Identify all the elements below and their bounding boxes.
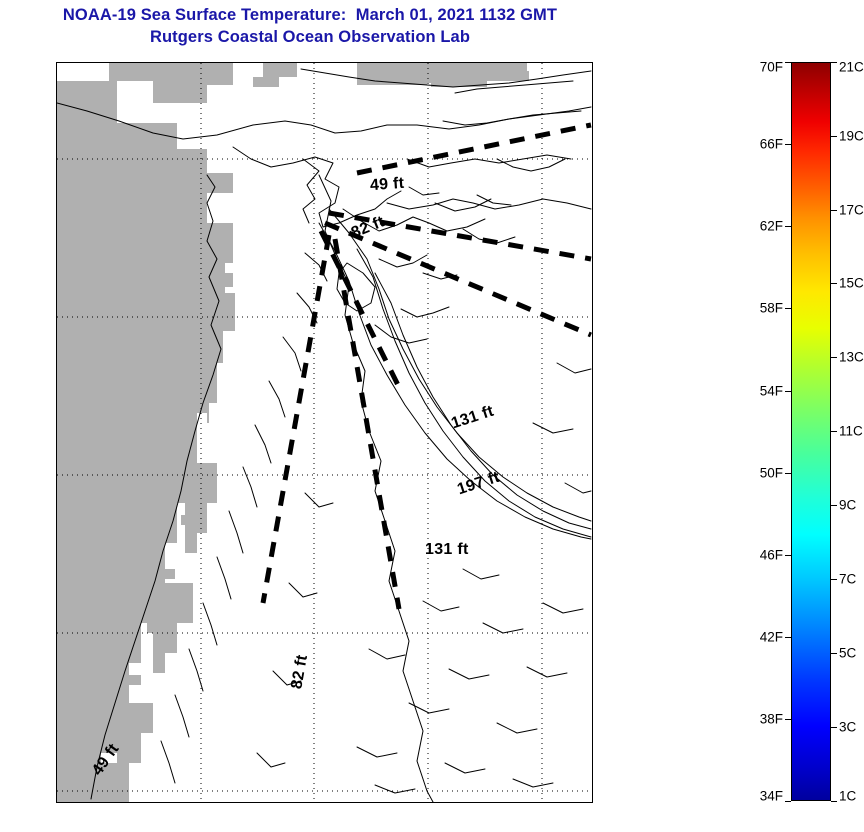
depth-label-49ft-north: 49 ft [369, 175, 405, 195]
cb-tick-c [831, 579, 837, 580]
page-title: NOAA-19 Sea Surface Temperature: March 0… [0, 4, 620, 26]
y-tick-major [56, 159, 57, 160]
y-tick-minor [56, 349, 57, 350]
cb-tick-f [785, 801, 791, 802]
x-tick-major [428, 802, 429, 803]
cb-tick-c [831, 283, 837, 284]
cb-label-9c: 9C [839, 498, 856, 513]
x-tick-minor [519, 62, 520, 63]
x-tick-major [542, 802, 543, 803]
y-tick-major [56, 317, 57, 318]
cb-label-13c: 13C [839, 350, 864, 365]
cb-tick-c [831, 136, 837, 137]
y-tick-minor [56, 380, 57, 381]
y-tick-major-right [592, 317, 593, 318]
y-tick-major [56, 475, 57, 476]
y-tick-minor [592, 696, 593, 697]
y-tick-major-right [592, 791, 593, 792]
cb-tick-f [785, 555, 791, 556]
cb-label-17c: 17C [839, 203, 864, 218]
depth-label-131ft-lower: 131 ft [425, 541, 469, 559]
sst-map-canvas [57, 63, 592, 802]
x-tick-minor [269, 802, 270, 803]
y-tick-minor [56, 570, 57, 571]
x-tick-minor [224, 802, 225, 803]
y-tick-minor [592, 665, 593, 666]
cb-tick-f [785, 719, 791, 720]
y-tick-minor [592, 759, 593, 760]
y-tick-minor [592, 728, 593, 729]
y-tick-minor [56, 191, 57, 192]
x-tick-minor [88, 802, 89, 803]
x-tick-major [201, 802, 202, 803]
y-tick-minor [56, 443, 57, 444]
x-tick-minor [156, 62, 157, 63]
y-tick-minor [592, 570, 593, 571]
y-tick-minor [592, 285, 593, 286]
cb-tick-c [831, 801, 837, 802]
cb-tick-c [831, 431, 837, 432]
cb-label-58f: 58F [760, 301, 783, 316]
y-tick-minor [592, 64, 593, 65]
x-tick-minor [292, 62, 293, 63]
y-tick-minor [592, 254, 593, 255]
x-tick-minor [337, 62, 338, 63]
page-subtitle: Rutgers Coastal Ocean Observation Lab [0, 26, 620, 48]
cb-label-54f: 54F [760, 384, 783, 399]
y-tick-minor [56, 759, 57, 760]
y-tick-minor [592, 349, 593, 350]
cb-label-50f: 50F [760, 466, 783, 481]
y-tick-minor [56, 601, 57, 602]
y-tick-major-right [592, 159, 593, 160]
y-tick-minor [56, 64, 57, 65]
cb-label-5c: 5C [839, 646, 856, 661]
cb-tick-f [785, 308, 791, 309]
x-tick-minor [473, 62, 474, 63]
x-tick-major-top [314, 62, 315, 63]
x-tick-minor [451, 802, 452, 803]
cb-tick-f [785, 391, 791, 392]
chart-title-block: NOAA-19 Sea Surface Temperature: March 0… [0, 4, 620, 48]
x-tick-minor [178, 802, 179, 803]
cb-label-7c: 7C [839, 572, 856, 587]
cb-label-42f: 42F [760, 630, 783, 645]
colorbar-gradient [791, 62, 831, 801]
x-tick-minor [88, 62, 89, 63]
y-tick-minor [592, 443, 593, 444]
cb-label-1c: 1C [839, 789, 856, 804]
x-tick-major [314, 802, 315, 803]
x-tick-minor [519, 802, 520, 803]
x-tick-minor [224, 62, 225, 63]
x-tick-minor [246, 62, 247, 63]
cb-label-19c: 19C [839, 129, 864, 144]
cb-tick-f [785, 637, 791, 638]
y-tick-minor [592, 222, 593, 223]
y-tick-minor [592, 507, 593, 508]
cb-tick-f [785, 62, 791, 63]
y-tick-minor [56, 127, 57, 128]
y-tick-minor [592, 127, 593, 128]
y-tick-minor [56, 665, 57, 666]
y-tick-minor [592, 601, 593, 602]
cb-label-3c: 3C [839, 720, 856, 735]
y-tick-minor [592, 96, 593, 97]
x-tick-minor [110, 62, 111, 63]
cb-tick-f [785, 144, 791, 145]
y-tick-minor [592, 380, 593, 381]
x-tick-major-top [428, 62, 429, 63]
y-tick-minor [56, 538, 57, 539]
x-tick-minor [133, 62, 134, 63]
x-tick-minor [360, 802, 361, 803]
y-tick-major-right [592, 475, 593, 476]
x-tick-major-top [542, 62, 543, 63]
cb-tick-c [831, 62, 837, 63]
y-tick-minor [56, 728, 57, 729]
x-tick-minor [133, 802, 134, 803]
x-tick-minor [405, 62, 406, 63]
x-tick-minor [156, 802, 157, 803]
cb-tick-c [831, 210, 837, 211]
y-tick-minor [592, 412, 593, 413]
cb-label-11c: 11C [839, 424, 863, 439]
x-tick-minor [110, 802, 111, 803]
cb-tick-f [785, 473, 791, 474]
x-tick-minor [360, 62, 361, 63]
x-tick-minor [473, 802, 474, 803]
x-tick-minor [587, 62, 588, 63]
cb-label-62f: 62F [760, 219, 783, 234]
x-tick-minor [405, 802, 406, 803]
x-tick-minor [65, 802, 66, 803]
x-tick-minor [383, 802, 384, 803]
x-tick-minor [564, 62, 565, 63]
y-tick-minor [56, 254, 57, 255]
cb-tick-c [831, 505, 837, 506]
cb-label-15c: 15C [839, 276, 864, 291]
cb-label-66f: 66F [760, 137, 783, 152]
y-tick-minor [56, 96, 57, 97]
cb-label-21c: 21C [839, 60, 864, 75]
y-tick-major [56, 633, 57, 634]
x-tick-minor [451, 62, 452, 63]
cb-label-38f: 38F [760, 712, 783, 727]
cb-tick-c [831, 653, 837, 654]
cb-label-34f: 34F [760, 789, 783, 804]
cb-tick-c [831, 357, 837, 358]
y-tick-minor [56, 507, 57, 508]
y-tick-minor [592, 191, 593, 192]
x-tick-minor [337, 802, 338, 803]
x-tick-minor [246, 802, 247, 803]
y-tick-minor [56, 222, 57, 223]
x-tick-minor [269, 62, 270, 63]
x-tick-minor [496, 802, 497, 803]
temperature-colorbar[interactable]: 70F 66F 62F 58F 54F 50F 46F 42F 38F 34F … [791, 62, 831, 801]
x-tick-minor [564, 802, 565, 803]
y-tick-major-right [592, 633, 593, 634]
y-tick-minor [56, 696, 57, 697]
y-tick-minor [56, 285, 57, 286]
x-tick-minor [178, 62, 179, 63]
y-tick-minor [592, 538, 593, 539]
cb-label-70f: 70F [760, 60, 783, 75]
sst-map-plot[interactable]: 49 ft 82 ft 131 ft 197 ft 131 ft 82 ft 4… [56, 62, 593, 803]
cb-tick-c [831, 727, 837, 728]
cb-tick-f [785, 226, 791, 227]
x-tick-major-top [201, 62, 202, 63]
x-tick-minor [587, 802, 588, 803]
y-tick-major [56, 791, 57, 792]
x-tick-minor [383, 62, 384, 63]
x-tick-minor [65, 62, 66, 63]
x-tick-minor [496, 62, 497, 63]
cb-label-46f: 46F [760, 548, 783, 563]
y-tick-minor [56, 412, 57, 413]
x-tick-minor [292, 802, 293, 803]
